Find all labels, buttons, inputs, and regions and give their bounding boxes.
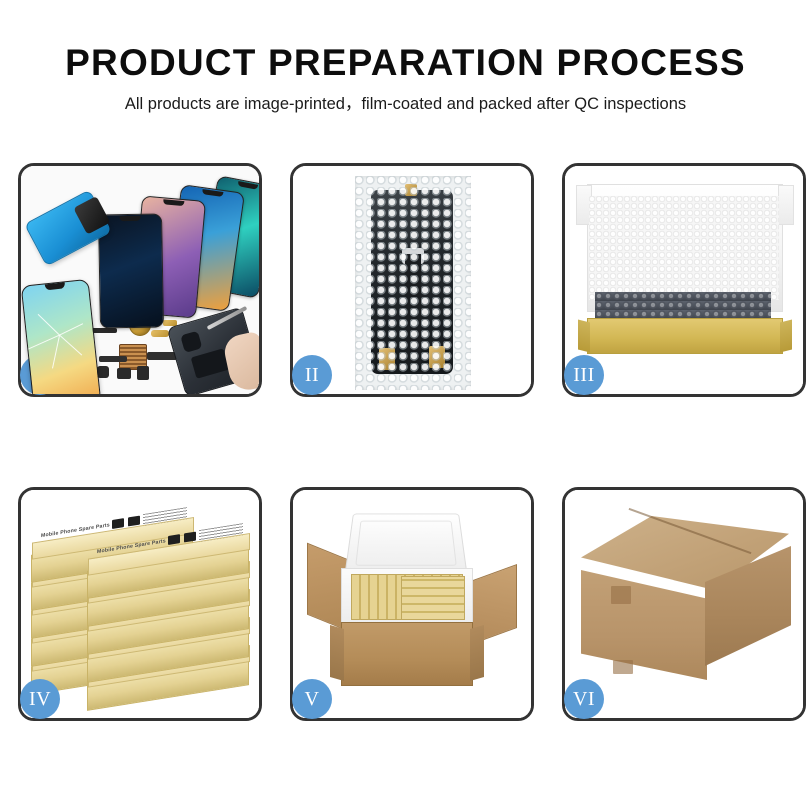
vibrator-icon [117, 368, 131, 379]
bubble-wrap-sleeve-icon [355, 176, 471, 390]
sealed-carton-illustration [565, 490, 803, 718]
box-label-text: Mobile Phone Spare Parts [41, 522, 110, 539]
speaker-mesh-icon [91, 328, 117, 333]
box-stack: Mobile Phone Spare Parts [21, 504, 259, 714]
gold-contact-icon [151, 330, 169, 337]
page-header: PRODUCT PREPARATION PROCESS All products… [0, 0, 811, 115]
step-badge-6: VI [564, 679, 604, 719]
golden-box-base-icon [587, 318, 783, 354]
carton-body-icon [341, 622, 473, 686]
step-image-1 [21, 166, 259, 394]
box-swatch-icon [112, 518, 124, 529]
bubble-texture [355, 176, 471, 390]
carton-tape-lower-icon [613, 660, 633, 674]
step-badge-3: III [564, 355, 604, 395]
step-badge-2: II [292, 355, 332, 395]
carton-tape-upper-icon [611, 586, 631, 604]
step-panel-1[interactable]: I [18, 163, 262, 397]
step-badge-4: IV [20, 679, 60, 719]
carton-loading-illustration [293, 490, 531, 718]
page-subtitle: All products are image-printed，film-coat… [0, 95, 811, 115]
page-title: PRODUCT PREPARATION PROCESS [0, 44, 811, 83]
button-part-icon [137, 366, 149, 380]
step-panel-6[interactable]: VI [562, 487, 806, 721]
step-panel-3[interactable]: III [562, 163, 806, 397]
step-image-6 [565, 490, 803, 718]
box-swatch-icon [168, 534, 180, 545]
box-swatch-icon [128, 516, 140, 527]
process-steps-grid: I II [18, 163, 794, 721]
bubble-wrap-illustration [293, 166, 531, 394]
step-panel-2[interactable]: II [290, 163, 534, 397]
inner-box-illustration [565, 166, 803, 394]
step-badge-5: V [292, 679, 332, 719]
step-image-5 [293, 490, 531, 718]
step-image-4: Mobile Phone Spare Parts [21, 490, 259, 718]
golden-boxes-stack-icon [401, 576, 465, 620]
foam-sheet-icon [589, 196, 779, 300]
box-swatch-icon [184, 532, 196, 543]
step-image-3 [565, 166, 803, 394]
connector-icon [97, 366, 109, 378]
step-image-2 [293, 166, 531, 394]
carton-front-face-icon [581, 570, 707, 680]
phone-cracked-screen-icon [21, 279, 101, 394]
stacked-boxes-illustration: Mobile Phone Spare Parts [21, 490, 259, 718]
step-panel-5[interactable]: V [290, 487, 534, 721]
foam-lid-icon [344, 514, 467, 575]
product-showcase-illustration [21, 166, 259, 394]
flex-cable-long-icon [147, 352, 177, 360]
step-panel-4[interactable]: Mobile Phone Spare Parts [18, 487, 262, 721]
flex-cable-icon [99, 356, 127, 362]
